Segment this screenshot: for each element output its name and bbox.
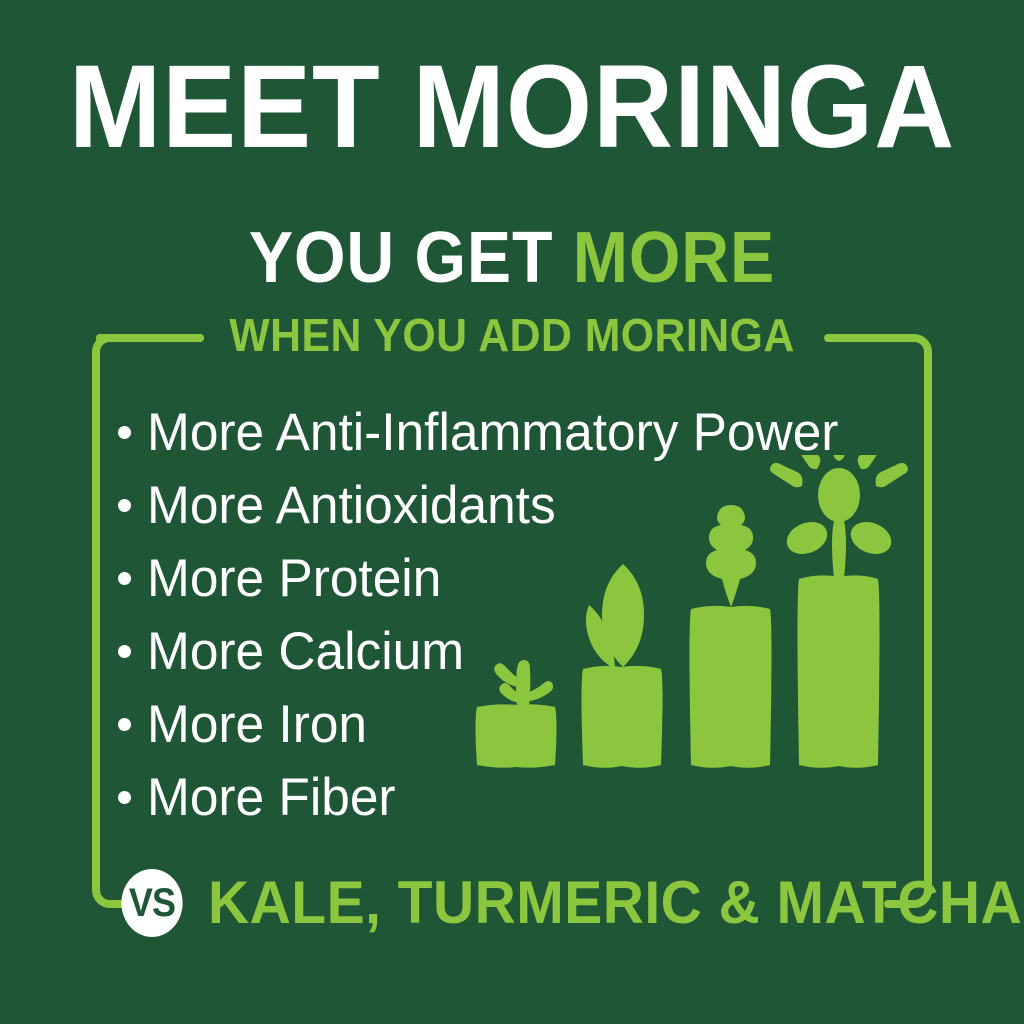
benefit-label: More Protein [147, 552, 441, 605]
bullet-icon [118, 426, 131, 439]
frame-caption: WHEN YOU ADD MORINGA [36, 312, 988, 358]
bullet-icon [118, 718, 131, 731]
bullet-icon [118, 645, 131, 658]
bullet-icon [118, 791, 131, 804]
benefit-label: More Anti-Inflammatory Power [147, 406, 838, 459]
subtitle: YOU GET MORE [41, 222, 983, 294]
comparison-footer: VS KALE, TURMERIC & MATCHA [118, 862, 938, 944]
benefit-label: More Calcium [147, 625, 464, 678]
flower-icon [770, 455, 908, 579]
sprout-icon [494, 660, 553, 711]
moringa-infographic: MEET MORINGA YOU GET MORE WHEN YOU ADD M… [0, 0, 1024, 1024]
bullet-icon [118, 499, 131, 512]
comparison-label: KALE, TURMERIC & MATCHA [208, 873, 1022, 933]
bar-chart-illustration [455, 455, 915, 845]
benefit-label: More Iron [147, 698, 367, 751]
bar-2 [582, 666, 663, 768]
benefit-label: More Fiber [147, 771, 396, 824]
cone-icon [706, 505, 756, 607]
vs-badge: VS [121, 869, 182, 937]
bar-4 [798, 575, 880, 767]
subtitle-accent: MORE [573, 218, 775, 298]
page-title: MEET MORINGA [31, 48, 994, 166]
subtitle-prefix: YOU GET [249, 218, 573, 298]
bar-1 [476, 704, 557, 767]
bar-3 [690, 606, 772, 768]
bullet-icon [118, 572, 131, 585]
leaf-icon [586, 564, 644, 669]
